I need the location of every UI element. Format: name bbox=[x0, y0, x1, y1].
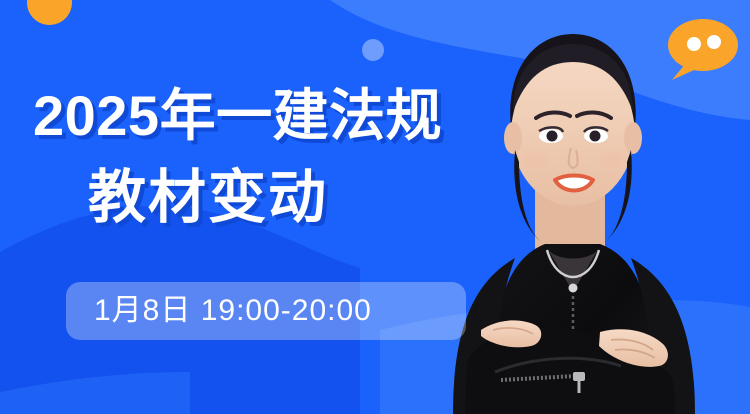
promo-banner: 2025年一建法规 教材变动 1月8日 19:00-20:00 bbox=[0, 0, 750, 414]
necklace-pendant bbox=[569, 284, 578, 293]
schedule-text: 1月8日 19:00-20:00 bbox=[94, 292, 372, 330]
headline-line-2: 教材变动 bbox=[88, 166, 328, 230]
headline-line-1: 2025年一建法规 bbox=[33, 85, 442, 147]
presenter-photo bbox=[395, 0, 750, 414]
eye-right bbox=[590, 131, 601, 142]
light-circle-decoration bbox=[362, 39, 384, 61]
eye-left bbox=[547, 131, 558, 142]
